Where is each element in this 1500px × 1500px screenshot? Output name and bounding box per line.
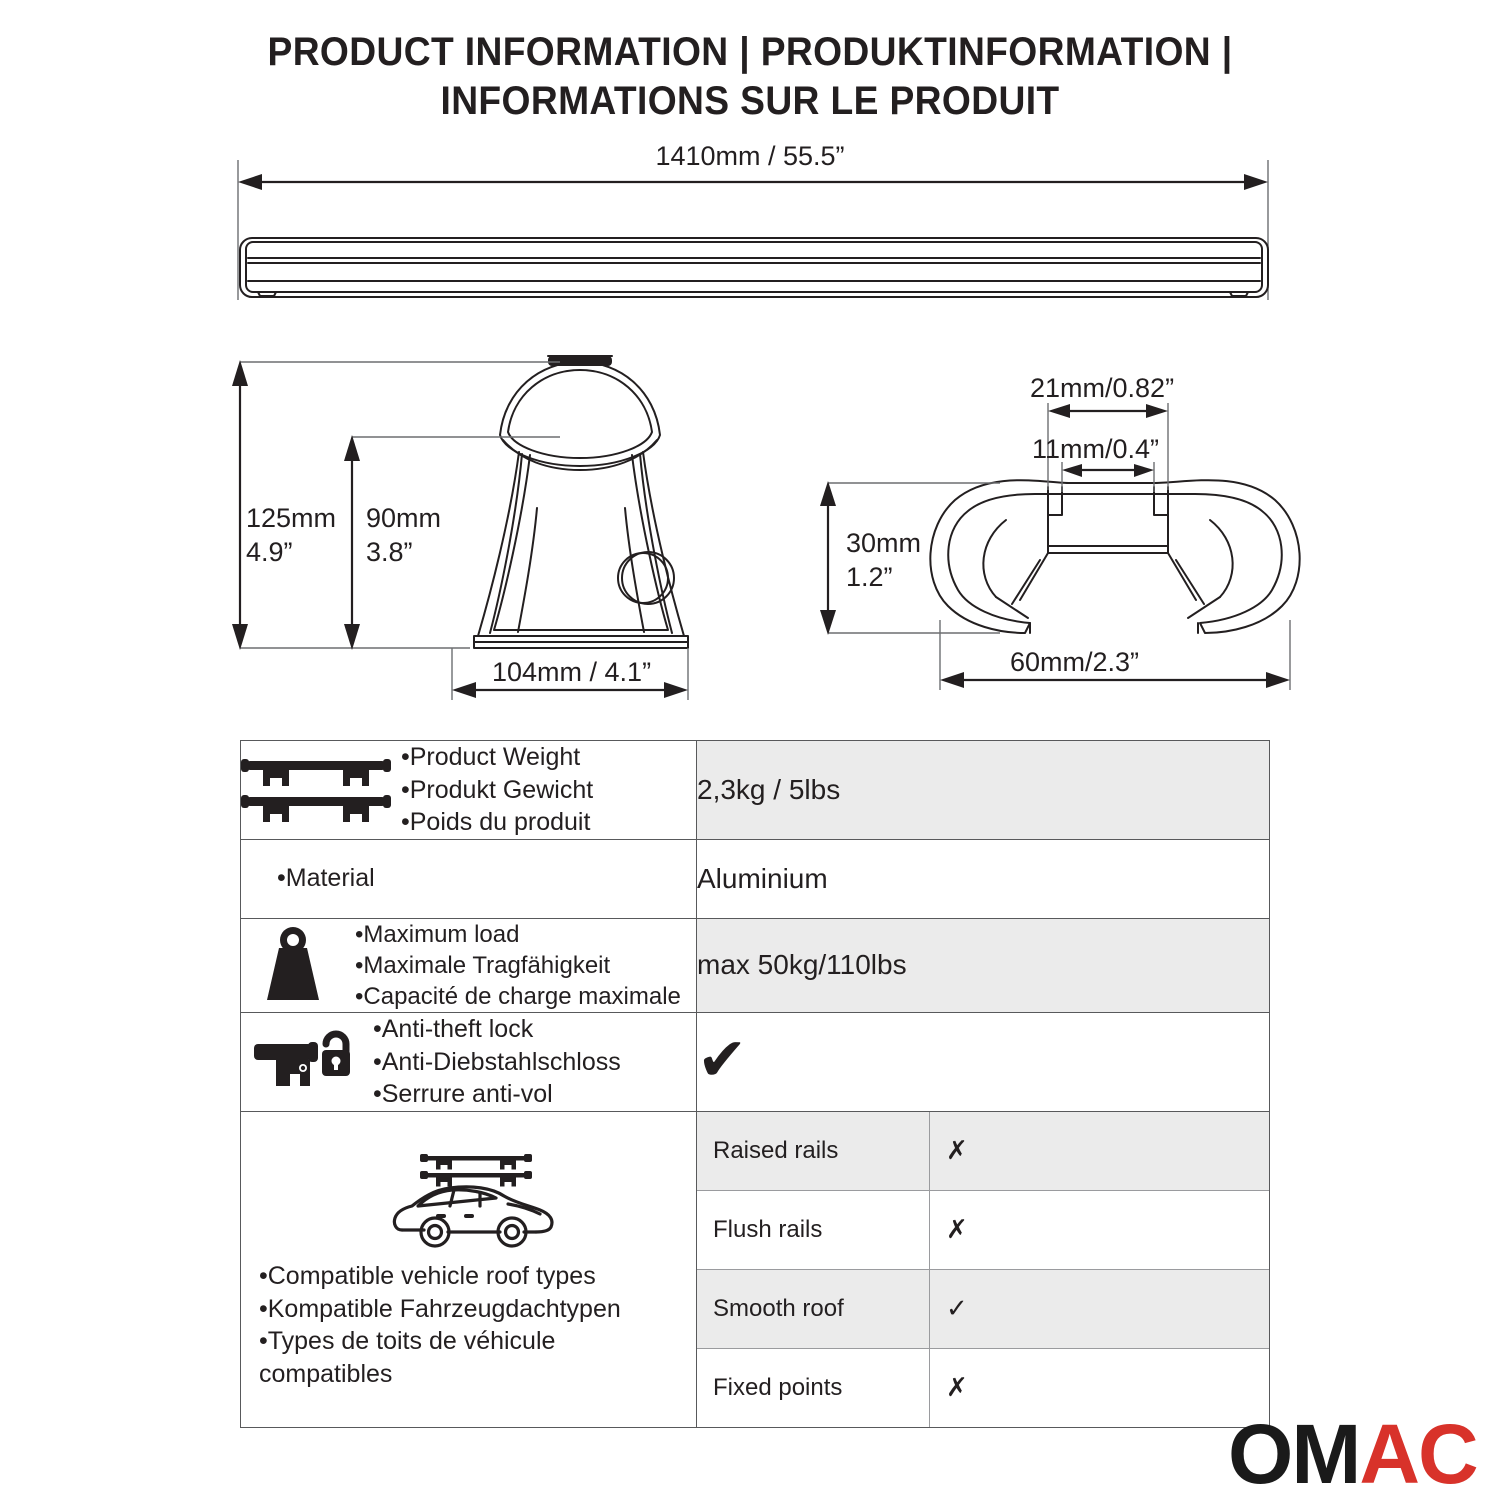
spec-label-en: •Product Weight <box>401 741 593 774</box>
foot-width-label: 104mm / 4.1” <box>492 656 651 690</box>
table-row: •Compatible vehicle roof types •Kompatib… <box>241 1111 1270 1427</box>
crossbar-side-view <box>240 238 1268 297</box>
spec-label-fr: •Capacité de charge maximale <box>355 981 681 1012</box>
spec-label-de: •Maximale Tragfähigkeit <box>355 950 681 981</box>
roof-type-row: Flush rails ✗ <box>697 1190 1269 1269</box>
spec-label-de: •Anti-Diebstahlschloss <box>373 1046 621 1079</box>
roof-type-mark-cross-icon: ✗ <box>930 1112 1270 1191</box>
product-spec-table: •Product Weight •Produkt Gewicht •Poids … <box>240 740 1270 1428</box>
spec-label-cell: •Product Weight •Produkt Gewicht •Poids … <box>241 741 697 840</box>
product-information-sheet: PRODUCT INFORMATION | PRODUKTINFORMATION… <box>0 0 1500 1500</box>
table-row: •Product Weight •Produkt Gewicht •Poids … <box>241 741 1270 840</box>
roof-type-mark-cross-icon: ✗ <box>930 1190 1270 1269</box>
spec-label-en: •Maximum load <box>355 919 681 950</box>
crossbars-icon <box>241 753 391 827</box>
weight-icon <box>241 924 345 1006</box>
spec-value-antitheft: ✔ <box>697 1013 1270 1112</box>
profile-slot-outer-label: 21mm/0.82” <box>1030 372 1174 406</box>
spec-label-list: •Compatible vehicle roof types •Kompatib… <box>259 1260 621 1390</box>
spec-label-list: •Anti-theft lock •Anti-Diebstahlschloss … <box>373 1013 621 1111</box>
spec-label-list: •Material <box>277 862 696 895</box>
lock-icon <box>241 1028 363 1096</box>
bar-profile-cross-section <box>930 480 1299 633</box>
spec-label-material: •Material <box>277 862 696 895</box>
foot-front-view <box>474 356 688 648</box>
spec-label-en: •Anti-theft lock <box>373 1013 621 1046</box>
car-with-roofrack-icon <box>388 1148 560 1254</box>
spec-value-weight: 2,3kg / 5lbs <box>697 741 1270 840</box>
foot-total-height-label: 125mm 4.9” <box>246 502 336 570</box>
spec-label-de: •Kompatible Fahrzeugdachtypen <box>259 1293 621 1326</box>
table-row: •Material Aluminium <box>241 839 1270 918</box>
table-row: •Anti-theft lock •Anti-Diebstahlschloss … <box>241 1013 1270 1112</box>
profile-slot-inner-label: 11mm/0.4” <box>1032 433 1159 467</box>
spec-label-list: •Maximum load •Maximale Tragfähigkeit •C… <box>355 919 681 1013</box>
logo-text-red: AC <box>1359 1407 1476 1500</box>
roof-type-matrix: Raised rails ✗ Flush rails ✗ Smooth roof… <box>697 1112 1269 1427</box>
spec-label-en: •Compatible vehicle roof types <box>259 1260 621 1293</box>
spec-label-fr: •Poids du produit <box>401 806 593 839</box>
omac-logo: OMAC <box>1228 1412 1477 1496</box>
spec-label-fr: •Serrure anti-vol <box>373 1078 621 1111</box>
profile-width-label: 60mm/2.3” <box>1010 646 1139 680</box>
spec-value-maxload: max 50kg/110lbs <box>697 918 1270 1013</box>
spec-label-de: •Produkt Gewicht <box>401 774 593 807</box>
roof-type-label: Raised rails <box>697 1112 930 1191</box>
profile-height-label: 30mm 1.2” <box>846 527 921 595</box>
spec-label-fr: •Types de toits de véhicule compatibles <box>259 1325 589 1390</box>
roof-type-matrix-cell: Raised rails ✗ Flush rails ✗ Smooth roof… <box>697 1111 1270 1427</box>
spec-label-cell: •Maximum load •Maximale Tragfähigkeit •C… <box>241 918 697 1013</box>
roof-type-label: Fixed points <box>697 1348 930 1427</box>
roof-type-mark-cross-icon: ✗ <box>930 1348 1270 1427</box>
spec-label-cell-rooftypes: •Compatible vehicle roof types •Kompatib… <box>241 1111 697 1427</box>
spec-label-list: •Product Weight •Produkt Gewicht •Poids … <box>401 741 593 839</box>
foot-inner-height-label: 90mm 3.8” <box>366 502 441 570</box>
spec-value-material: Aluminium <box>697 839 1270 918</box>
logo-text-black: OM <box>1228 1407 1359 1500</box>
roof-type-mark-check-icon: ✓ <box>930 1269 1270 1348</box>
spec-label-cell: •Material <box>241 839 697 918</box>
roof-type-row: Fixed points ✗ <box>697 1348 1269 1427</box>
roof-type-row: Smooth roof ✓ <box>697 1269 1269 1348</box>
table-row: •Maximum load •Maximale Tragfähigkeit •C… <box>241 918 1270 1013</box>
check-mark-icon: ✔ <box>697 1025 747 1095</box>
roof-type-label: Flush rails <box>697 1190 930 1269</box>
roof-type-row: Raised rails ✗ <box>697 1112 1269 1191</box>
spec-label-cell: •Anti-theft lock •Anti-Diebstahlschloss … <box>241 1013 697 1112</box>
roof-type-label: Smooth roof <box>697 1269 930 1348</box>
